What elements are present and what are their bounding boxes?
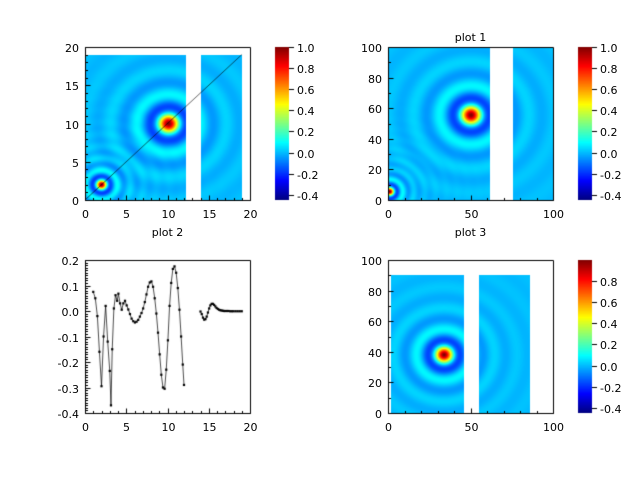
matplotlib-figure — [0, 0, 640, 480]
figure-canvas-root: 0510152005101520plot 2-0.4-0.20.00.20.40… — [0, 0, 640, 480]
